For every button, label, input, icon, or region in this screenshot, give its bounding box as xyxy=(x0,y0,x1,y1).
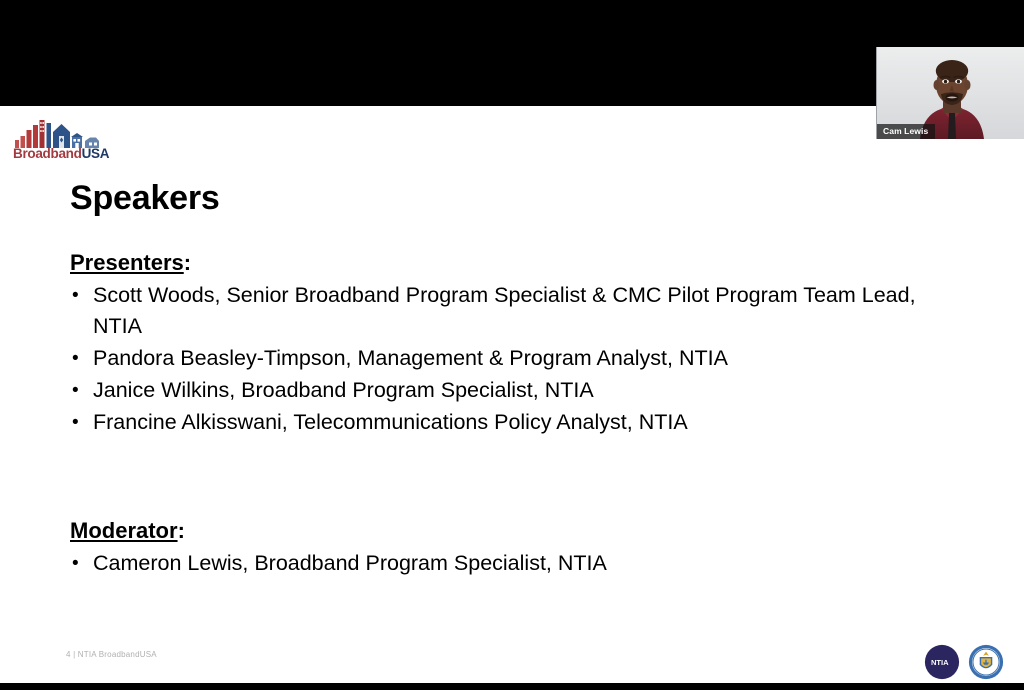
moderator-list: •Cameron Lewis, Broadband Program Specia… xyxy=(70,548,950,579)
participant-name-label: Cam Lewis xyxy=(877,124,935,139)
bullet-icon: • xyxy=(72,548,79,579)
list-item-text: Janice Wilkins, Broadband Program Specia… xyxy=(93,378,594,402)
section-heading-presenters-label: Presenters xyxy=(70,250,184,275)
page-title: Speakers xyxy=(70,178,220,218)
slide-footer-text: 4 | NTIA BroadbandUSA xyxy=(66,650,157,659)
bullet-icon: • xyxy=(72,280,79,311)
list-item: •Francine Alkisswani, Telecommunications… xyxy=(70,407,950,438)
letterbox-top-bar xyxy=(0,0,1024,106)
department-of-commerce-seal-icon xyxy=(968,644,1004,680)
svg-text:NTIA: NTIA xyxy=(931,658,949,667)
presentation-slide: BroadbandUSA Speakers Presenters: •Scott… xyxy=(0,106,1024,683)
list-item: •Scott Woods, Senior Broadband Program S… xyxy=(70,280,950,342)
logo-wordmark: BroadbandUSA xyxy=(13,146,109,162)
participant-video-tile[interactable]: Cam Lewis xyxy=(876,47,1024,139)
section-heading-moderator-colon: : xyxy=(178,518,185,543)
list-item: •Cameron Lewis, Broadband Program Specia… xyxy=(70,548,950,579)
letterbox-bottom-bar xyxy=(0,683,1024,690)
section-heading-moderator-label: Moderator xyxy=(70,518,178,543)
list-item-text: Scott Woods, Senior Broadband Program Sp… xyxy=(93,283,916,338)
section-heading-presenters-colon: : xyxy=(184,250,191,275)
logo-word-usa: USA xyxy=(82,146,110,161)
logo-word-broadband: Broadband xyxy=(13,146,82,161)
list-item: •Janice Wilkins, Broadband Program Speci… xyxy=(70,375,950,406)
ntia-seal-icon: NTIA xyxy=(924,644,960,680)
screen-share-view: BroadbandUSA Speakers Presenters: •Scott… xyxy=(0,0,1024,690)
section-spacer xyxy=(70,439,950,516)
presenters-list: •Scott Woods, Senior Broadband Program S… xyxy=(70,280,950,438)
list-item-text: Pandora Beasley-Timpson, Management & Pr… xyxy=(93,346,728,370)
bullet-icon: • xyxy=(72,407,79,438)
bullet-icon: • xyxy=(72,343,79,374)
broadbandusa-logo: BroadbandUSA xyxy=(13,118,113,166)
list-item-text: Cameron Lewis, Broadband Program Special… xyxy=(93,551,607,575)
broadbandusa-skyline-icon xyxy=(13,118,113,148)
slide-body: Presenters: •Scott Woods, Senior Broadba… xyxy=(70,248,950,580)
list-item: •Pandora Beasley-Timpson, Management & P… xyxy=(70,343,950,374)
list-item-text: Francine Alkisswani, Telecommunications … xyxy=(93,410,688,434)
agency-seals: NTIA xyxy=(916,641,1010,683)
section-heading-presenters: Presenters: xyxy=(70,248,950,278)
section-heading-moderator: Moderator: xyxy=(70,516,950,546)
bullet-icon: • xyxy=(72,375,79,406)
